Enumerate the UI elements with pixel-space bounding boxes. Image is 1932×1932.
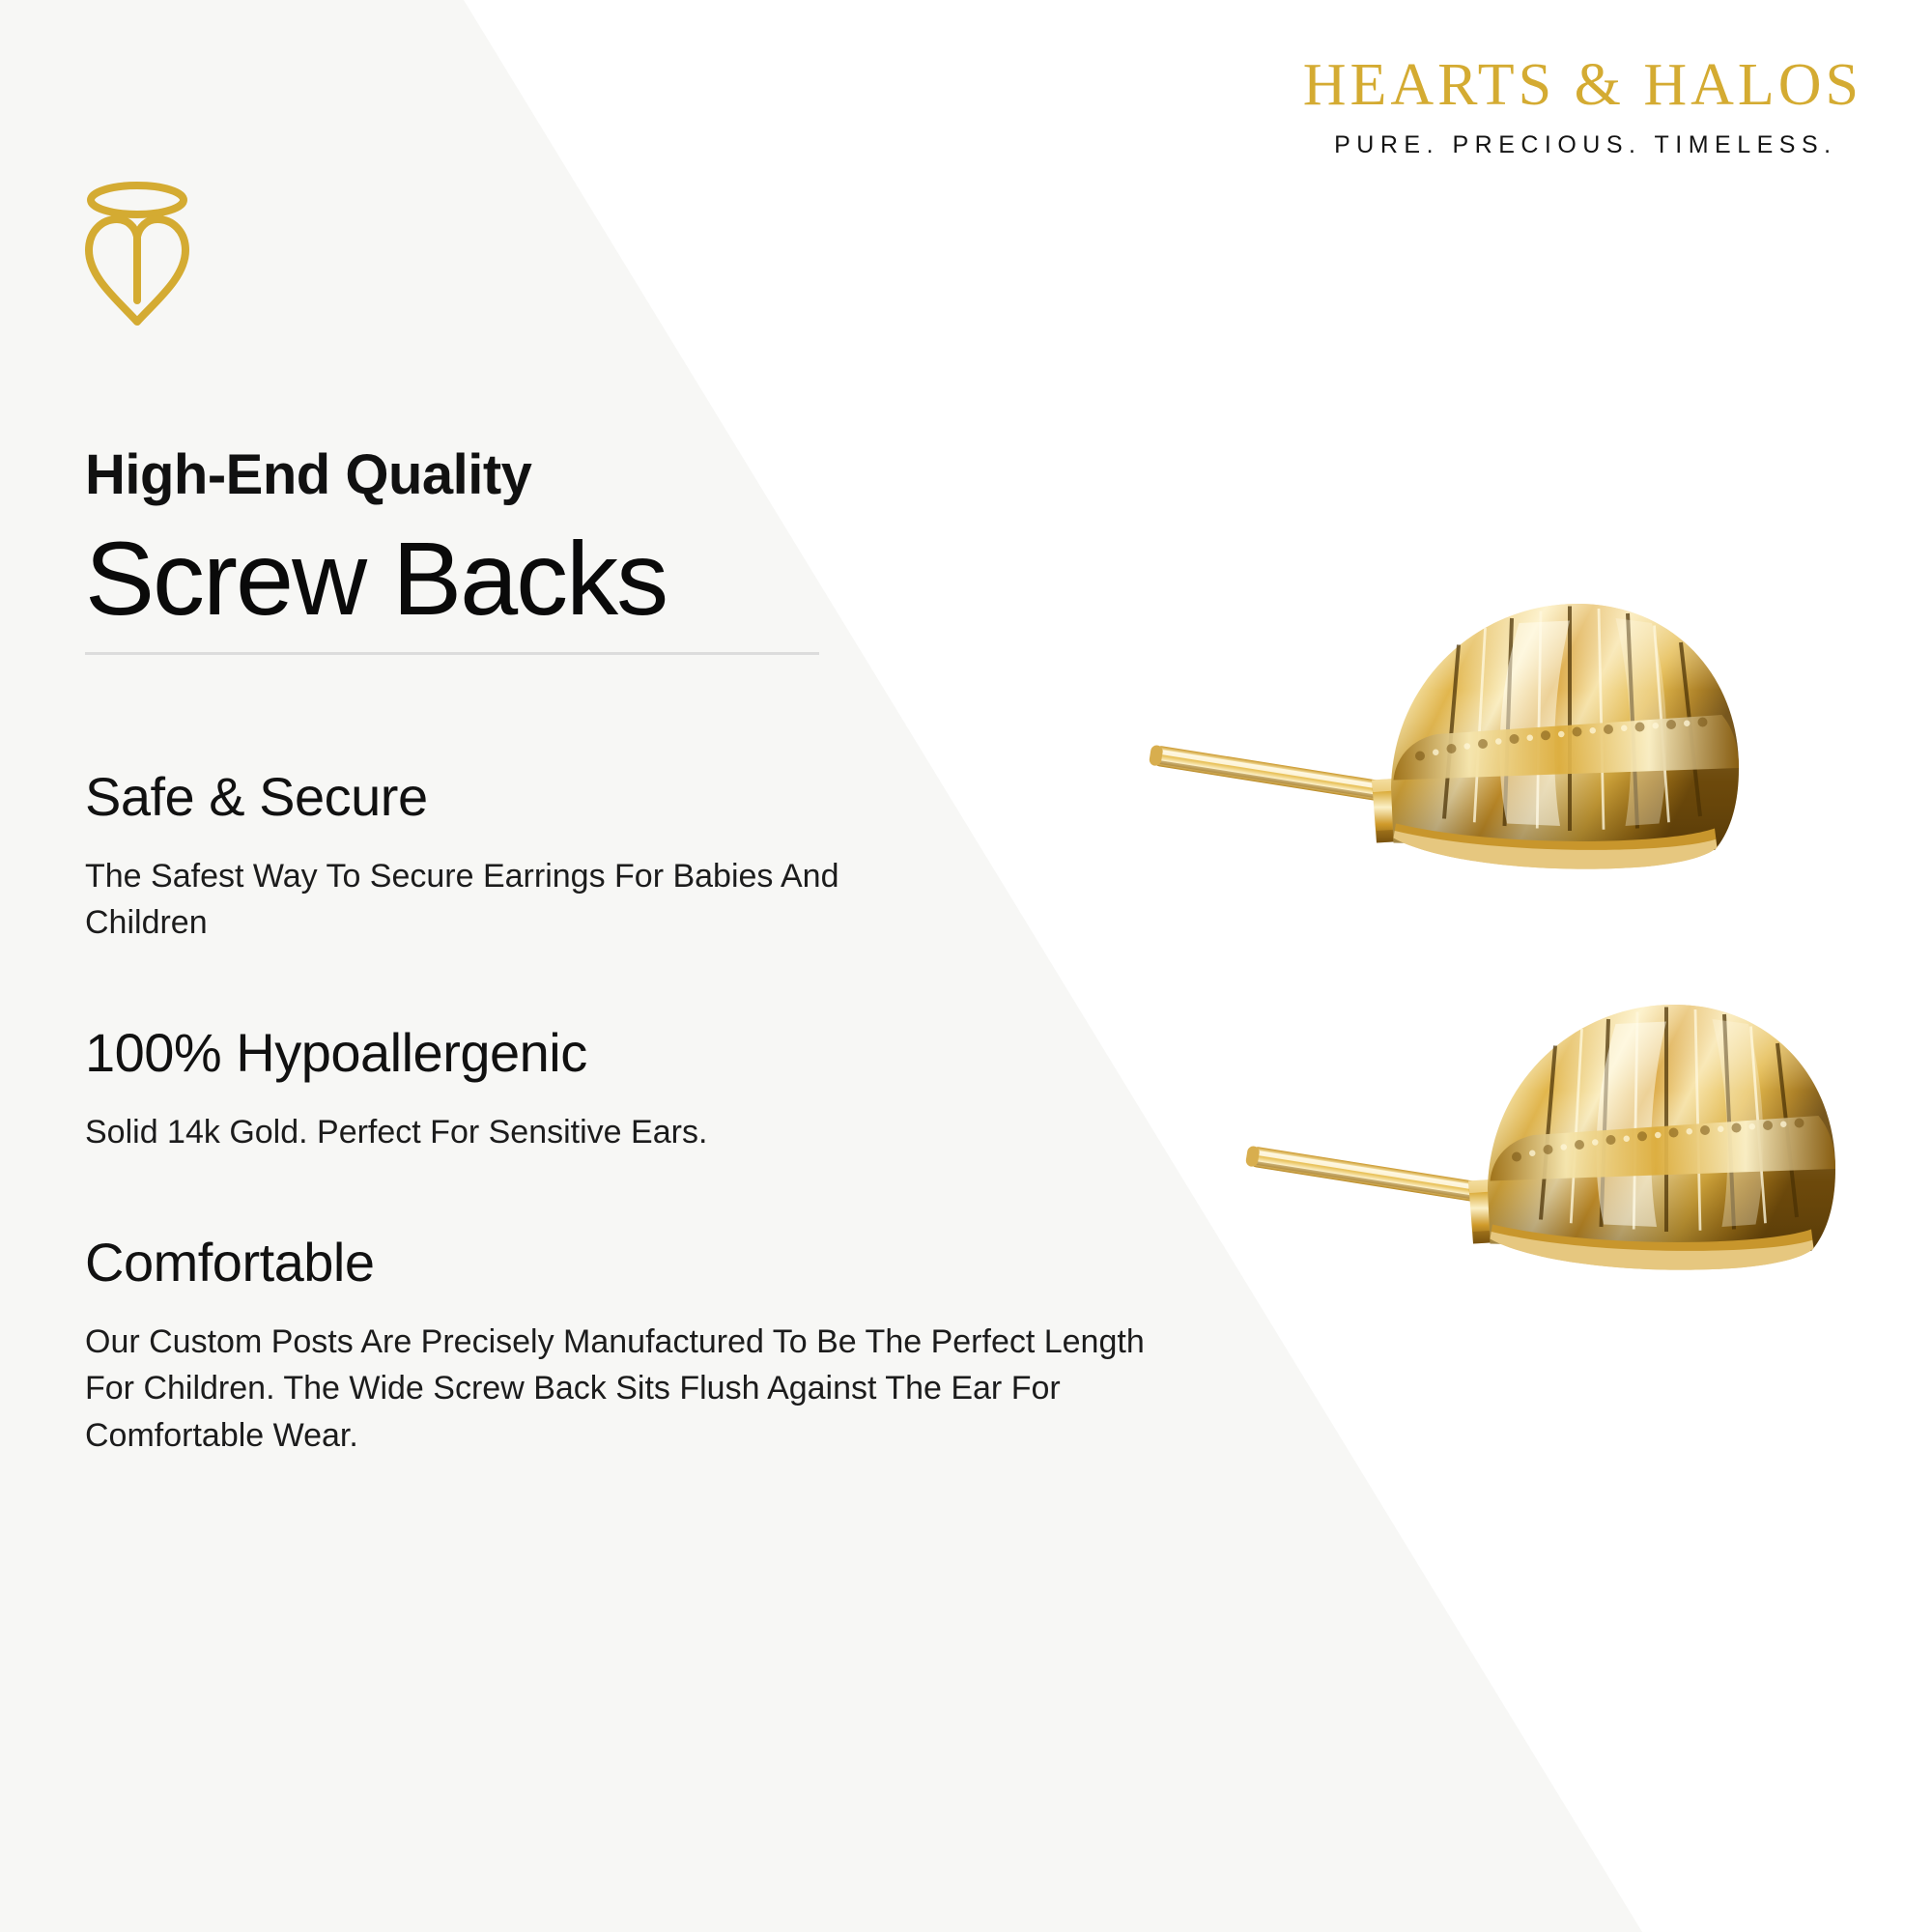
infographic-canvas: HEARTS & HALOS PURE. PRECIOUS. TIMELESS.… bbox=[0, 0, 1932, 1932]
feature-item-safe-secure: Safe & Secure The Safest Way To Secure E… bbox=[85, 769, 1148, 946]
title-underline-rule bbox=[85, 652, 819, 655]
feature-title: Safe & Secure bbox=[85, 769, 1148, 826]
feature-list: Safe & Secure The Safest Way To Secure E… bbox=[85, 769, 1148, 1459]
feature-title: Comfortable bbox=[85, 1235, 1148, 1292]
eyebrow-heading: High-End Quality bbox=[85, 446, 1148, 505]
feature-body: Our Custom Posts Are Precisely Manufactu… bbox=[85, 1319, 1148, 1459]
content-column: High-End Quality Screw Backs Safe & Secu… bbox=[85, 446, 1148, 1459]
feature-item-hypoallergenic: 100% Hypoallergenic Solid 14k Gold. Perf… bbox=[85, 1025, 1148, 1155]
page-title-block: Screw Backs bbox=[85, 526, 858, 655]
feature-title: 100% Hypoallergenic bbox=[85, 1025, 1148, 1082]
feature-item-comfortable: Comfortable Our Custom Posts Are Precise… bbox=[85, 1235, 1148, 1459]
feature-body: Solid 14k Gold. Perfect For Sensitive Ea… bbox=[85, 1109, 848, 1155]
feature-body: The Safest Way To Secure Earrings For Ba… bbox=[85, 853, 848, 947]
halo-heart-icon bbox=[75, 177, 201, 341]
brand-logo: HEARTS & HALOS PURE. PRECIOUS. TIMELESS. bbox=[1303, 52, 1862, 159]
brand-tagline: PURE. PRECIOUS. TIMELESS. bbox=[1303, 131, 1862, 159]
page-title: Screw Backs bbox=[85, 526, 858, 631]
brand-name: HEARTS & HALOS bbox=[1303, 52, 1862, 118]
halo-ellipse bbox=[91, 185, 184, 214]
